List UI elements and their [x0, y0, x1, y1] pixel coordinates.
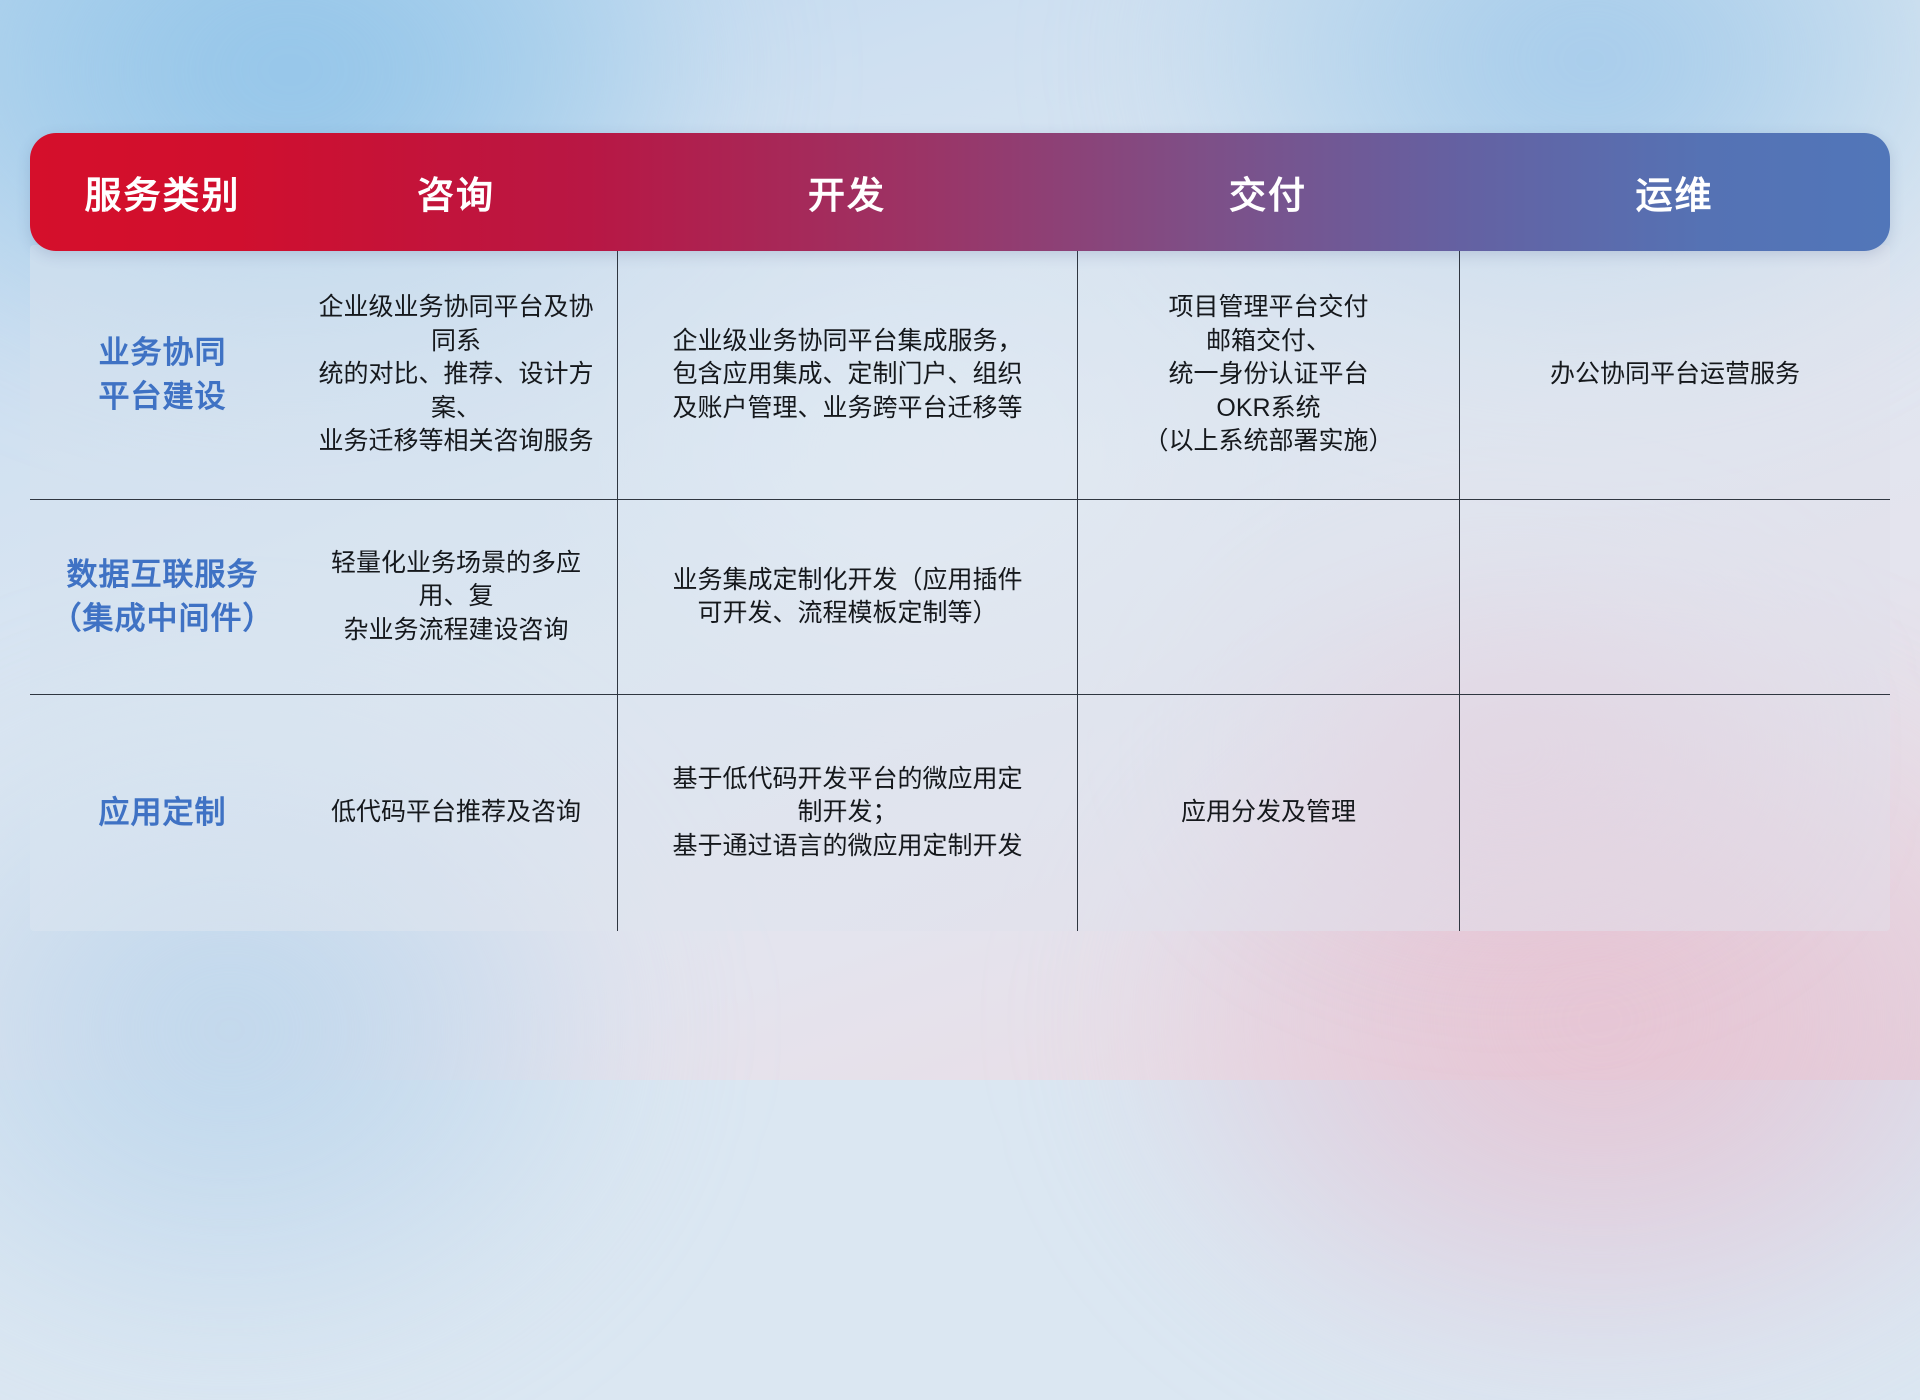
cell-consulting: 轻量化业务场景的多应用、复 杂业务流程建设咨询 — [295, 500, 617, 694]
service-matrix-table: 服务类别 咨询 开发 交付 运维 业务协同 平台建设 企业级业务协同平台及协同系… — [30, 133, 1890, 931]
cell-operations: 办公协同平台运营服务 — [1459, 251, 1890, 499]
column-header-development: 开发 — [617, 165, 1077, 219]
cell-operations — [1459, 695, 1890, 931]
cell-consulting: 企业级业务协同平台及协同系 统的对比、推荐、设计方案、 业务迁移等相关咨询服务 — [295, 251, 617, 499]
column-header-operations: 运维 — [1459, 165, 1890, 219]
table-row: 数据互联服务 （集成中间件） 轻量化业务场景的多应用、复 杂业务流程建设咨询 业… — [30, 499, 1890, 694]
row-label-data-interconnection: 数据互联服务 （集成中间件） — [30, 500, 295, 694]
cell-delivery — [1077, 500, 1459, 694]
row-label-business-collaboration: 业务协同 平台建设 — [30, 251, 295, 499]
cell-consulting: 低代码平台推荐及咨询 — [295, 695, 617, 931]
cell-development: 业务集成定制化开发（应用插件 可开发、流程模板定制等） — [617, 500, 1077, 694]
table-body: 业务协同 平台建设 企业级业务协同平台及协同系 统的对比、推荐、设计方案、 业务… — [30, 245, 1890, 931]
cell-development: 企业级业务协同平台集成服务， 包含应用集成、定制门户、组织 及账户管理、业务跨平… — [617, 251, 1077, 499]
column-header-category: 服务类别 — [30, 165, 295, 219]
cell-development: 基于低代码开发平台的微应用定 制开发； 基于通过语言的微应用定制开发 — [617, 695, 1077, 931]
cell-operations — [1459, 500, 1890, 694]
column-header-delivery: 交付 — [1077, 165, 1459, 219]
column-header-consulting: 咨询 — [295, 165, 617, 219]
cell-delivery: 项目管理平台交付 邮箱交付、 统一身份认证平台 OKR系统 （以上系统部署实施） — [1077, 251, 1459, 499]
table-row: 应用定制 低代码平台推荐及咨询 基于低代码开发平台的微应用定 制开发； 基于通过… — [30, 694, 1890, 931]
table-header-row: 服务类别 咨询 开发 交付 运维 — [30, 133, 1890, 251]
table-row: 业务协同 平台建设 企业级业务协同平台及协同系 统的对比、推荐、设计方案、 业务… — [30, 251, 1890, 499]
cell-delivery: 应用分发及管理 — [1077, 695, 1459, 931]
row-label-application-customization: 应用定制 — [30, 695, 295, 931]
